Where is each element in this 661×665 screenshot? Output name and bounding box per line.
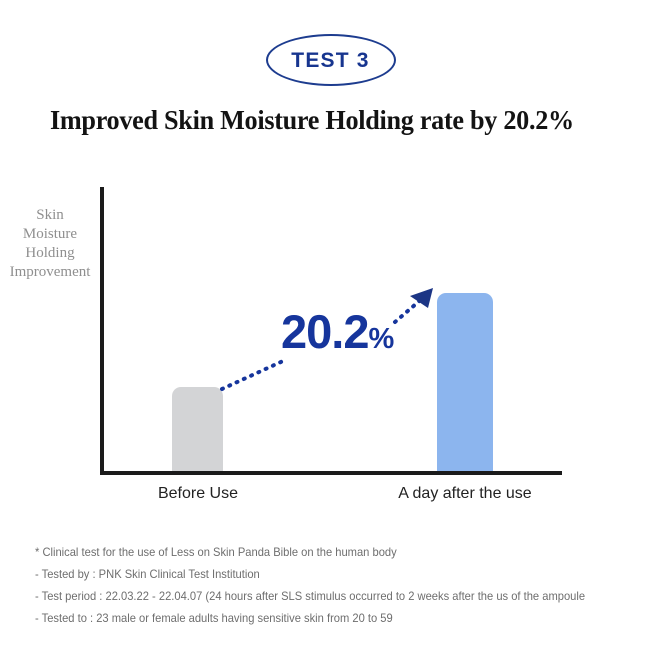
footnote-line: * Clinical test for the use of Less on S…: [35, 541, 612, 563]
delta-annotation: 20.2%: [281, 308, 394, 355]
y-axis-label-line: Improvement: [0, 263, 100, 282]
x-axis-tick-label: Before Use: [128, 485, 268, 503]
footnote-line: - Tested to : 23 male or female adults h…: [35, 607, 612, 629]
delta-unit: %: [368, 323, 393, 355]
bar-a-day-after-the-use: [437, 293, 493, 471]
bar-before-use: [172, 387, 223, 471]
y-axis-label-line: Moisture: [0, 225, 100, 244]
y-axis-label-line: Skin: [0, 206, 100, 225]
y-axis-label: Skin Moisture Holding Improvement: [0, 206, 100, 282]
footnotes: * Clinical test for the use of Less on S…: [35, 541, 655, 629]
x-axis-tick-label: A day after the use: [385, 485, 545, 503]
y-axis-label-line: Holding: [0, 244, 100, 263]
footnote-line: - Tested by : PNK Skin Clinical Test Ins…: [35, 563, 612, 585]
x-axis-line: [100, 471, 562, 475]
delta-value: 20.2: [281, 305, 368, 358]
y-axis-line: [100, 187, 104, 475]
footnote-line: - Test period : 22.03.22 - 22.04.07 (24 …: [35, 585, 612, 607]
